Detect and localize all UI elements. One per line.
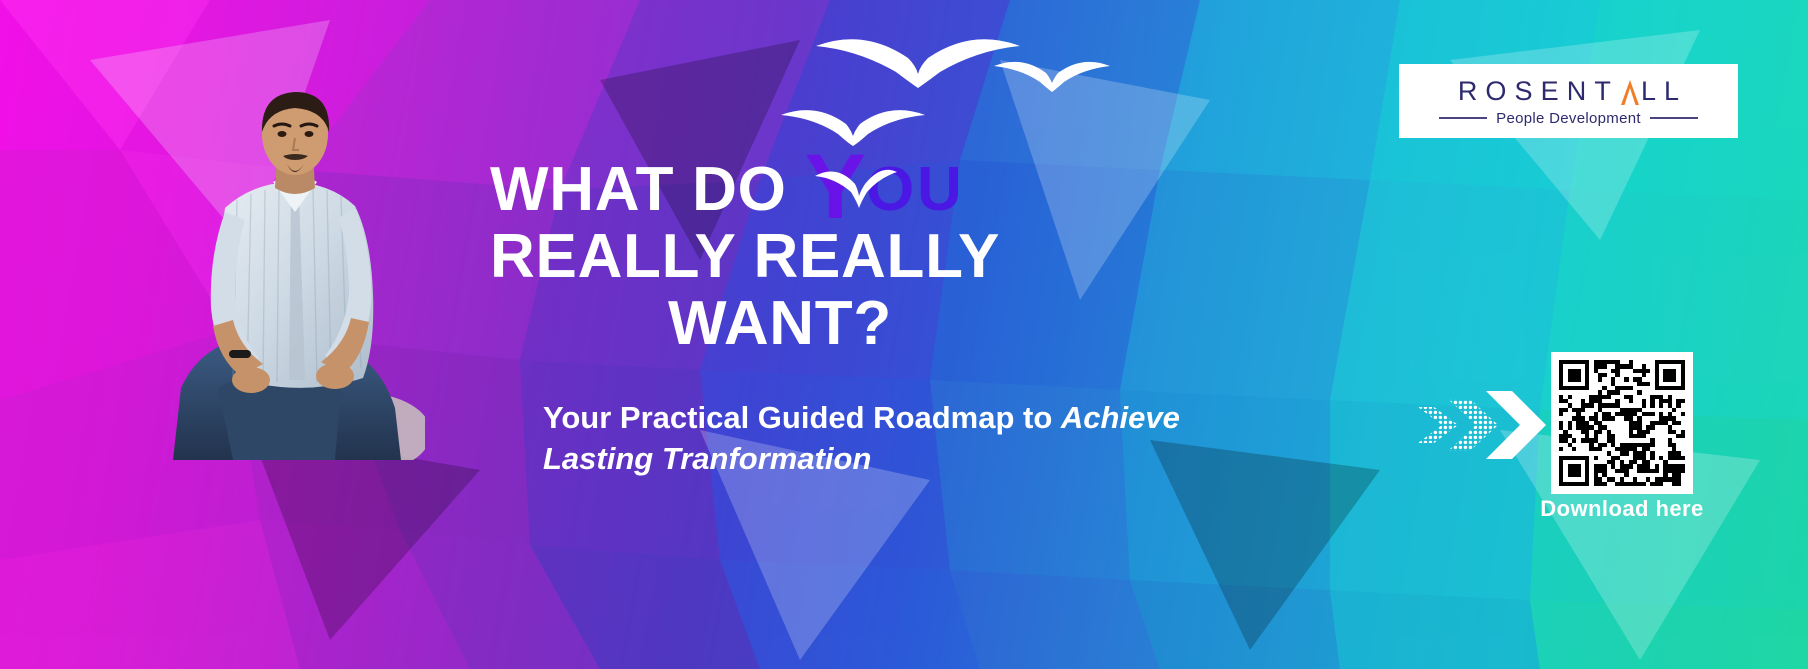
subtitle-plain: Your Practical Guided Roadmap to <box>543 400 1061 435</box>
logo-chevron-a-icon <box>1619 78 1641 105</box>
page-title: WHAT DO Y OU REALLY REALLY WANT? <box>490 152 1190 354</box>
download-here-label[interactable]: Download here <box>1531 496 1713 522</box>
seagull-small-right-icon <box>992 52 1112 92</box>
qr-code-matrix <box>1559 360 1685 486</box>
headline-what-do: WHAT DO <box>490 155 805 224</box>
headline-line-1: WHAT DO Y OU <box>490 152 1190 221</box>
logo-rule-left <box>1439 117 1487 119</box>
logo-name-part1: ROSENT <box>1458 78 1619 105</box>
logo-rule-right <box>1650 117 1698 119</box>
qr-code[interactable] <box>1551 352 1693 494</box>
subtitle: Your Practical Guided Roadmap to Achieve… <box>543 398 1183 480</box>
double-chevron-right-icon <box>1418 385 1548 465</box>
headline-you: Y OU <box>805 152 965 221</box>
logo-wordmark: ROSENT LL <box>1450 78 1687 105</box>
promotional-banner: WHAT DO Y OU REALLY REALLY WANT? Your Pr… <box>0 0 1808 669</box>
headline-you-letters-ou: OU <box>866 155 965 224</box>
logo-tagline: People Development <box>1496 110 1641 127</box>
headline-you-letter-y: Y <box>805 136 866 238</box>
brand-logo[interactable]: ROSENT LL People Development <box>1399 64 1738 138</box>
logo-name-part2: LL <box>1641 78 1687 105</box>
logo-tagline-row: People Development <box>1439 110 1698 127</box>
headline-line-3: WANT? <box>490 294 1190 355</box>
person-photo <box>163 88 425 460</box>
